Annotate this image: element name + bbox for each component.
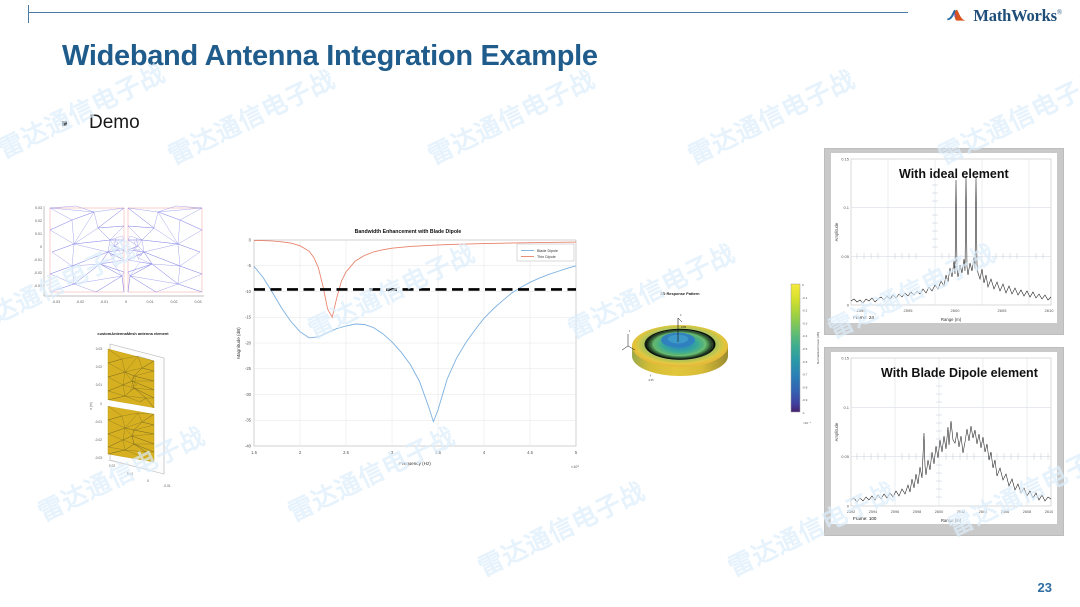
svg-text:-15: -15 [245,315,252,320]
svg-text:2602: 2602 [957,510,965,514]
svg-text:2594: 2594 [869,510,877,514]
svg-text:0.01: 0.01 [96,383,102,387]
svg-text:-0.6: -0.6 [802,360,808,364]
range-blade-ylabel: Amplitude [834,422,839,441]
svg-text:0.15: 0.15 [841,157,850,162]
svg-text:-35: -35 [245,418,252,423]
svg-text:-0.03: -0.03 [52,300,60,304]
svg-text:-0.05: -0.05 [648,379,654,382]
mathworks-logo-icon [946,6,968,26]
bandwidth-chart-title: Bandwidth Enhancement with Blade Dipole [355,229,462,235]
bandwidth-chart-svg: Bandwidth Enhancement with Blade Dipole [232,222,584,478]
svg-text:0.05: 0.05 [681,325,687,329]
bandwidth-ylabel: Magnitude (dB) [236,327,241,359]
svg-text:0: 0 [147,479,149,483]
svg-text:-0.01: -0.01 [163,484,170,488]
svg-text:-0.7: -0.7 [802,373,808,377]
svg-text:2600: 2600 [935,510,943,514]
header-rule [28,12,908,13]
svg-text:-0.3: -0.3 [802,321,808,325]
svg-text:2592: 2592 [847,510,855,514]
bullet-item: Demo [62,112,140,134]
svg-text:-30: -30 [245,392,252,397]
colorbar-label: Normalized Power (dB) [816,332,820,364]
svg-text:-40: -40 [245,444,252,449]
range-blade-xlabel: Range (m) [941,518,962,523]
figure-antenna-mesh-2d: 0.030.02 0.010 -0.01-0.02 -0.03 -0.03-0.… [14,200,210,318]
legend-label-blade-dipole: Blade Dipole [537,249,558,253]
svg-text:-0.01: -0.01 [95,420,102,424]
svg-text:-0.02: -0.02 [76,300,84,304]
svg-text:0: 0 [100,402,102,406]
svg-text:0.01: 0.01 [127,472,133,476]
svg-text:0.03: 0.03 [96,347,102,351]
svg-text:0: 0 [40,245,42,249]
svg-text:-20: -20 [245,341,252,346]
svg-text:0: 0 [125,300,127,304]
svg-text:2610: 2610 [1045,308,1055,313]
svg-text:4.5: 4.5 [527,450,533,455]
figure-antenna-element-3d: customAntennaMesh antenna element 0.030.… [30,326,202,488]
svg-text:-0.2: -0.2 [802,309,808,313]
antenna-element-3d-svg: customAntennaMesh antenna element 0.030.… [30,326,202,488]
mathworks-logo-text: MathWorks® [973,6,1062,26]
svg-text:-0.9: -0.9 [802,398,808,402]
range-ideal-title: With ideal element [899,167,1009,181]
svg-text:0.02: 0.02 [96,365,102,369]
panel-range-ideal: 0.15 0.1 0.05 0 Amplitude 25902595 26002… [824,148,1064,335]
range-blade-frame: Frame: 100 [853,516,877,521]
svg-text:-0.02: -0.02 [34,271,42,275]
watermark: 雷达通信电子战 [421,60,600,172]
svg-text:-0.03: -0.03 [95,456,102,460]
svg-text:2.5: 2.5 [343,450,349,455]
svg-text:-0.03: -0.03 [34,284,42,288]
page-title: Wideband Antenna Integration Example [62,40,598,73]
range-ideal-xlabel: Range (m) [941,317,962,322]
legend-label-thin-dipole: Thin Dipole [537,255,556,259]
svg-text:0.03: 0.03 [35,206,42,210]
svg-text:3.5: 3.5 [435,450,441,455]
svg-text:-0.1: -0.1 [802,296,808,300]
svg-text:0.02: 0.02 [171,300,178,304]
svg-text:-0.02: -0.02 [95,438,102,442]
svg-text:0.1: 0.1 [843,205,849,210]
watermark: 雷达通信电子战 [471,472,650,584]
page-number: 23 [1038,580,1052,595]
registered-mark: ® [1057,9,1062,17]
svg-text:1.5: 1.5 [251,450,257,455]
svg-text:0.02: 0.02 [35,219,42,223]
svg-text:2605: 2605 [998,308,1008,313]
svg-text:-10: -10 [245,289,252,294]
svg-text:0.1: 0.1 [843,405,849,410]
svg-text:2600: 2600 [951,308,961,313]
slide: MathWorks® Wideband Antenna Integration … [0,0,1080,607]
range-ideal-ylabel: Amplitude [834,222,839,241]
svg-text:2590: 2590 [857,308,867,313]
bandwidth-legend: Blade Dipole Thin Dipole [517,244,574,261]
svg-text:2604: 2604 [979,510,987,514]
svg-text:0.01: 0.01 [147,300,154,304]
svg-text:0.02: 0.02 [109,464,115,468]
svg-text:0.05: 0.05 [841,454,850,459]
svg-text:2598: 2598 [913,510,921,514]
svg-text:0.01: 0.01 [35,232,42,236]
svg-text:-0.4: -0.4 [802,334,808,338]
svg-text:-0.5: -0.5 [802,347,808,351]
pattern-3d-title: 3D Response Pattern [660,291,700,296]
svg-text:2608: 2608 [1023,510,1031,514]
bandwidth-xlabel: Frequency (Hz) [399,461,431,466]
pattern-3d-svg: 3D Response Pattern [618,284,740,406]
svg-text:-0.01: -0.01 [100,300,108,304]
watermark: 雷达通信电子战 [161,60,340,172]
svg-text:2596: 2596 [891,510,899,514]
svg-text:0.05: 0.05 [841,254,850,259]
mathworks-logo: MathWorks® [946,6,1062,26]
svg-text:-25: -25 [245,366,252,371]
bullet-square-icon [62,121,67,126]
bullet-label: Demo [89,112,140,134]
antenna-mesh-2d-svg: 0.030.02 0.010 -0.01-0.02 -0.03 -0.03-0.… [14,200,210,318]
svg-text:2610: 2610 [1045,510,1053,514]
svg-text:-0.8: -0.8 [802,385,808,389]
range-blade-title: With Blade Dipole element [881,366,1038,380]
colorbar-exponent: ×10⁻⁴ [803,421,812,425]
svg-text:2595: 2595 [904,308,914,313]
svg-text:0: 0 [802,283,804,287]
svg-text:-0.01: -0.01 [34,258,42,262]
element-plot-title: customAntennaMesh antenna element [97,331,169,336]
svg-text:2606: 2606 [1001,510,1009,514]
figure-3d-response-pattern: 3D Response Pattern [618,284,740,406]
svg-text:0.15: 0.15 [841,356,850,361]
range-ideal-frame: Frame: 24 [853,315,874,320]
bandwidth-x-exponent: ×10⁹ [571,465,579,469]
figure-bandwidth-chart: Bandwidth Enhancement with Blade Dipole [232,222,584,478]
panel-range-blade: 0.15 0.1 0.05 0 Amplitude 25922594 25962… [824,347,1064,536]
svg-text:0.03: 0.03 [195,300,202,304]
element-ylabel: z (m) [89,402,93,410]
svg-text:-1: -1 [802,411,805,415]
